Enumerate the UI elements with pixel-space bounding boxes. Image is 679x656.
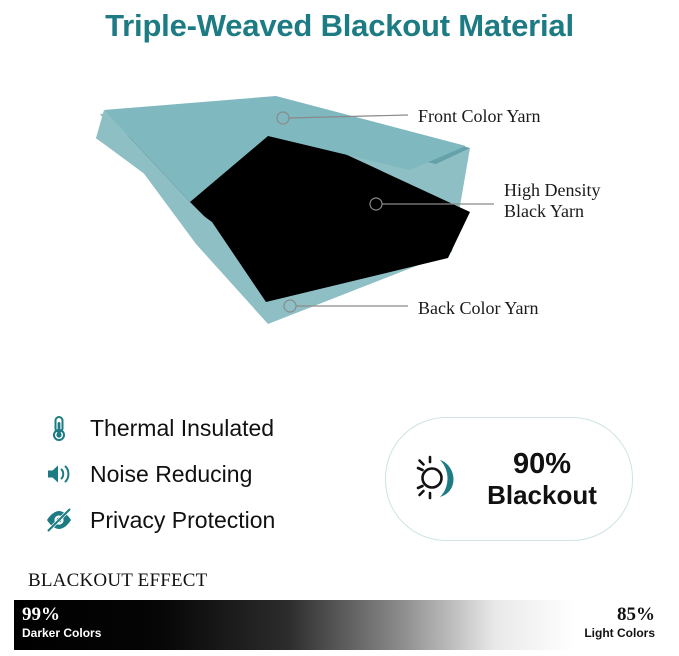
blackout-effect-left-stat: 99% Darker Colors [22, 604, 101, 640]
callout-label-high-density-black-yarn: High Density Black Yarn [504, 180, 601, 222]
eye-slash-icon [42, 503, 76, 537]
feature-label-noise-reducing: Noise Reducing [90, 461, 252, 488]
fabric-layers-diagram: Front Color Yarn High Density Black Yarn… [0, 52, 679, 392]
left-percent: 99% [22, 604, 101, 626]
thermometer-icon [42, 411, 76, 445]
feature-row-privacy-protection: Privacy Protection [42, 497, 372, 543]
blackout-word: Blackout [487, 480, 597, 510]
right-caption: Light Colors [584, 626, 655, 640]
blackout-effect-title: BLACKOUT EFFECT [28, 570, 207, 592]
feature-row-noise-reducing: Noise Reducing [42, 451, 372, 497]
fabric-layers-svg [0, 52, 679, 392]
sun-blocked-icon [410, 451, 466, 507]
blackout-effect-gradient-bar [14, 600, 665, 650]
speaker-sound-icon [42, 457, 76, 491]
blackout-badge: 90% Blackout [385, 417, 633, 541]
callout-label-back-color-yarn: Back Color Yarn [418, 298, 539, 319]
right-percent: 85% [584, 604, 655, 626]
page-title: Triple-Weaved Blackout Material [0, 0, 679, 52]
feature-label-privacy-protection: Privacy Protection [90, 507, 275, 534]
left-caption: Darker Colors [22, 626, 101, 640]
feature-label-thermal-insulated: Thermal Insulated [90, 415, 274, 442]
feature-row-thermal-insulated: Thermal Insulated [42, 405, 372, 451]
blackout-badge-text: 90% Blackout [466, 448, 632, 510]
blackout-percent: 90% [513, 448, 571, 480]
blackout-effect-right-stat: 85% Light Colors [584, 604, 655, 640]
feature-list: Thermal Insulated Noise Reducing Privacy… [42, 405, 372, 543]
callout-label-front-color-yarn: Front Color Yarn [418, 106, 541, 127]
